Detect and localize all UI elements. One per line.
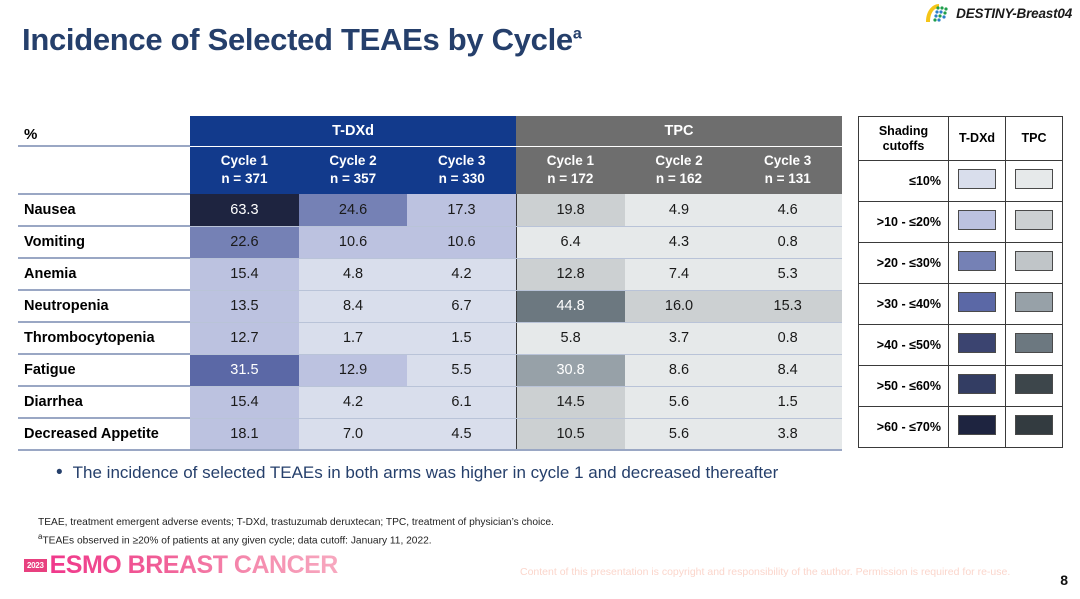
legend-cutoff-label: >20 - ≤30%	[859, 243, 949, 284]
esmo-year-badge: 2023	[24, 559, 47, 572]
cycle-header-tdxd-1: Cycle 1 n = 371	[190, 146, 299, 194]
cell-tdxd-c1: 12.7	[190, 322, 299, 354]
key-message-text: The incidence of selected TEAEs in both …	[73, 462, 779, 484]
cycle-n: n = 357	[299, 170, 408, 188]
cell-tpc-c3: 5.3	[733, 258, 842, 290]
legend-row: >30 - ≤40%	[859, 284, 1063, 325]
cycle-header-tdxd-2: Cycle 2 n = 357	[299, 146, 408, 194]
page-title-superscript: a	[573, 26, 582, 43]
cell-tdxd-c1: 18.1	[190, 418, 299, 450]
legend-row: >60 - ≤70%	[859, 407, 1063, 448]
legend-swatch-tdxd-cell	[949, 161, 1006, 202]
cycle-n: n = 162	[625, 170, 734, 188]
cell-tdxd-c2: 4.2	[299, 386, 408, 418]
page-title: Incidence of Selected TEAEs by Cyclea	[22, 22, 581, 58]
legend-header-tdxd: T-DXd	[949, 117, 1006, 161]
shading-legend-table: Shading cutoffs T-DXd TPC ≤10%>10 - ≤20%…	[858, 116, 1063, 448]
legend-head: Shading cutoffs T-DXd TPC	[859, 117, 1063, 161]
legend-cutoff-label: >50 - ≤60%	[859, 366, 949, 407]
legend-swatch-tpc-cell	[1006, 202, 1063, 243]
cycle-label: Cycle 2	[299, 152, 408, 170]
teae-incidence-table: % T-DXd TPC Cycle 1 n = 371 Cycle 2 n = …	[18, 116, 842, 451]
legend-row: >40 - ≤50%	[859, 325, 1063, 366]
legend-swatch-tdxd-cell	[949, 202, 1006, 243]
table-row: Decreased Appetite18.17.04.510.55.63.8	[18, 418, 842, 450]
cell-tpc-c1: 6.4	[516, 226, 625, 258]
study-logo-name: DESTINY-Breast04	[956, 6, 1072, 21]
cell-tdxd-c3: 1.5	[407, 322, 516, 354]
footnote-abbreviations: TEAE, treatment emergent adverse events;…	[38, 516, 554, 531]
cell-tpc-c3: 15.3	[733, 290, 842, 322]
cell-tdxd-c2: 7.0	[299, 418, 408, 450]
footnote-a: aTEAEs observed in ≥20% of patients at a…	[38, 531, 554, 549]
legend-cutoff-label: ≤10%	[859, 161, 949, 202]
esmo-logo-text: ESMO BREAST CANCER	[50, 553, 338, 578]
row-label-neutropenia: Neutropenia	[18, 290, 190, 322]
cell-tpc-c3: 1.5	[733, 386, 842, 418]
cell-tdxd-c3: 5.5	[407, 354, 516, 386]
table-row: Vomiting22.610.610.66.44.30.8	[18, 226, 842, 258]
legend-cutoff-label: >30 - ≤40%	[859, 284, 949, 325]
slide-root: DESTINY-Breast04 Incidence of Selected T…	[0, 0, 1080, 599]
cell-tdxd-c3: 6.7	[407, 290, 516, 322]
cell-tdxd-c2: 12.9	[299, 354, 408, 386]
cycle-n: n = 131	[733, 170, 842, 188]
row-label-thrombocytopenia: Thrombocytopenia	[18, 322, 190, 354]
legend-swatch-tpc-cell	[1006, 161, 1063, 202]
legend-swatch-tdxd-cell	[949, 366, 1006, 407]
cell-tpc-c3: 8.4	[733, 354, 842, 386]
footnote-a-text: TEAEs observed in ≥20% of patients at an…	[42, 535, 431, 546]
cell-tdxd-c1: 13.5	[190, 290, 299, 322]
table-row: Thrombocytopenia12.71.71.55.83.70.8	[18, 322, 842, 354]
footnotes: TEAE, treatment emergent adverse events;…	[38, 516, 554, 549]
header-spacer-cell	[18, 146, 190, 194]
cell-tdxd-c3: 4.5	[407, 418, 516, 450]
table-row: Diarrhea15.44.26.114.55.61.5	[18, 386, 842, 418]
cell-tdxd-c2: 8.4	[299, 290, 408, 322]
cell-tdxd-c3: 17.3	[407, 194, 516, 226]
table-row: Anemia15.44.84.212.87.45.3	[18, 258, 842, 290]
cycle-label: Cycle 3	[407, 152, 516, 170]
page-number: 8	[1060, 572, 1068, 588]
legend-swatch-tdxd	[958, 333, 996, 353]
legend-swatch-tdxd-cell	[949, 284, 1006, 325]
cell-tdxd-c1: 22.6	[190, 226, 299, 258]
table-body: Nausea63.324.617.319.84.94.6Vomiting22.6…	[18, 194, 842, 450]
cell-tdxd-c2: 4.8	[299, 258, 408, 290]
legend-swatch-tdxd-cell	[949, 325, 1006, 366]
table-header-arm-row: % T-DXd TPC	[18, 116, 842, 146]
arm-header-tdxd: T-DXd	[190, 116, 516, 146]
row-label-fatigue: Fatigue	[18, 354, 190, 386]
cell-tpc-c3: 0.8	[733, 322, 842, 354]
table-row: Neutropenia13.58.46.744.816.015.3	[18, 290, 842, 322]
legend-header-cutoffs: Shading cutoffs	[859, 117, 949, 161]
legend-swatch-tpc	[1015, 415, 1053, 435]
esmo-logo: 2023 ESMO BREAST CANCER	[24, 553, 338, 578]
legend-swatch-tpc	[1015, 251, 1053, 271]
row-label-decreased-appetite: Decreased Appetite	[18, 418, 190, 450]
legend-swatch-tdxd	[958, 210, 996, 230]
table-head: % T-DXd TPC Cycle 1 n = 371 Cycle 2 n = …	[18, 116, 842, 194]
key-message: • The incidence of selected TEAEs in bot…	[56, 462, 778, 484]
table-row: Fatigue31.512.95.530.88.68.4	[18, 354, 842, 386]
legend-swatch-tpc	[1015, 210, 1053, 230]
legend-header-row: Shading cutoffs T-DXd TPC	[859, 117, 1063, 161]
cycle-header-tdxd-3: Cycle 3 n = 330	[407, 146, 516, 194]
cell-tpc-c1: 44.8	[516, 290, 625, 322]
bullet-dot-icon: •	[56, 462, 63, 484]
table-row: Nausea63.324.617.319.84.94.6	[18, 194, 842, 226]
legend-swatch-tdxd-cell	[949, 243, 1006, 284]
legend-body: ≤10%>10 - ≤20%>20 - ≤30%>30 - ≤40%>40 - …	[859, 161, 1063, 448]
cycle-n: n = 172	[516, 170, 625, 188]
cell-tdxd-c3: 6.1	[407, 386, 516, 418]
cycle-label: Cycle 1	[516, 152, 625, 170]
cell-tpc-c1: 5.8	[516, 322, 625, 354]
cell-tpc-c2: 8.6	[625, 354, 734, 386]
cell-tpc-c2: 5.6	[625, 418, 734, 450]
legend-swatch-tdxd	[958, 251, 996, 271]
legend-swatch-tpc	[1015, 374, 1053, 394]
legend-header-tpc: TPC	[1006, 117, 1063, 161]
legend-swatch-tpc	[1015, 169, 1053, 189]
legend-row: ≤10%	[859, 161, 1063, 202]
cell-tpc-c1: 14.5	[516, 386, 625, 418]
legend-row: >50 - ≤60%	[859, 366, 1063, 407]
cell-tpc-c3: 4.6	[733, 194, 842, 226]
row-label-nausea: Nausea	[18, 194, 190, 226]
cycle-label: Cycle 2	[625, 152, 734, 170]
cell-tdxd-c1: 63.3	[190, 194, 299, 226]
cell-tdxd-c1: 15.4	[190, 258, 299, 290]
study-logo: DESTINY-Breast04	[924, 3, 1072, 23]
cell-tpc-c1: 19.8	[516, 194, 625, 226]
copyright-notice: Content of this presentation is copyrigh…	[520, 566, 1010, 578]
legend-swatch-tdxd	[958, 292, 996, 312]
legend-swatch-tpc	[1015, 292, 1053, 312]
legend-cutoff-label: >10 - ≤20%	[859, 202, 949, 243]
cycle-n: n = 371	[190, 170, 299, 188]
cell-tdxd-c1: 15.4	[190, 386, 299, 418]
cell-tpc-c1: 30.8	[516, 354, 625, 386]
cycle-header-tpc-3: Cycle 3 n = 131	[733, 146, 842, 194]
cell-tpc-c2: 3.7	[625, 322, 734, 354]
cycle-label: Cycle 1	[190, 152, 299, 170]
cell-tdxd-c2: 1.7	[299, 322, 408, 354]
row-label-vomiting: Vomiting	[18, 226, 190, 258]
cell-tpc-c1: 12.8	[516, 258, 625, 290]
cell-tpc-c3: 0.8	[733, 226, 842, 258]
row-label-anemia: Anemia	[18, 258, 190, 290]
cycle-header-tpc-2: Cycle 2 n = 162	[625, 146, 734, 194]
legend-swatch-tpc-cell	[1006, 284, 1063, 325]
arm-header-tpc: TPC	[516, 116, 842, 146]
cell-tdxd-c3: 4.2	[407, 258, 516, 290]
legend-swatch-tpc-cell	[1006, 407, 1063, 448]
cycle-header-tpc-1: Cycle 1 n = 172	[516, 146, 625, 194]
legend-row: >20 - ≤30%	[859, 243, 1063, 284]
cell-tdxd-c2: 24.6	[299, 194, 408, 226]
percent-unit-header: %	[18, 116, 190, 146]
legend-swatch-tdxd	[958, 169, 996, 189]
legend-swatch-tdxd-cell	[949, 407, 1006, 448]
cell-tpc-c2: 7.4	[625, 258, 734, 290]
cell-tdxd-c1: 31.5	[190, 354, 299, 386]
legend-swatch-tpc-cell	[1006, 366, 1063, 407]
cell-tdxd-c2: 10.6	[299, 226, 408, 258]
cell-tpc-c2: 4.3	[625, 226, 734, 258]
legend-swatch-tpc-cell	[1006, 325, 1063, 366]
page-title-text: Incidence of Selected TEAEs by Cycle	[22, 22, 573, 57]
legend-swatch-tpc-cell	[1006, 243, 1063, 284]
cell-tpc-c3: 3.8	[733, 418, 842, 450]
legend-row: >10 - ≤20%	[859, 202, 1063, 243]
cell-tpc-c2: 5.6	[625, 386, 734, 418]
cell-tpc-c2: 16.0	[625, 290, 734, 322]
legend-swatch-tdxd	[958, 415, 996, 435]
legend-cutoff-label: >60 - ≤70%	[859, 407, 949, 448]
row-label-diarrhea: Diarrhea	[18, 386, 190, 418]
cell-tdxd-c3: 10.6	[407, 226, 516, 258]
cell-tpc-c2: 4.9	[625, 194, 734, 226]
cell-tpc-c1: 10.5	[516, 418, 625, 450]
legend-swatch-tdxd	[958, 374, 996, 394]
legend-swatch-tpc	[1015, 333, 1053, 353]
table-header-cycle-row: Cycle 1 n = 371 Cycle 2 n = 357 Cycle 3 …	[18, 146, 842, 194]
legend-cutoff-label: >40 - ≤50%	[859, 325, 949, 366]
destiny-burst-icon	[924, 3, 950, 23]
cycle-n: n = 330	[407, 170, 516, 188]
cycle-label: Cycle 3	[733, 152, 842, 170]
